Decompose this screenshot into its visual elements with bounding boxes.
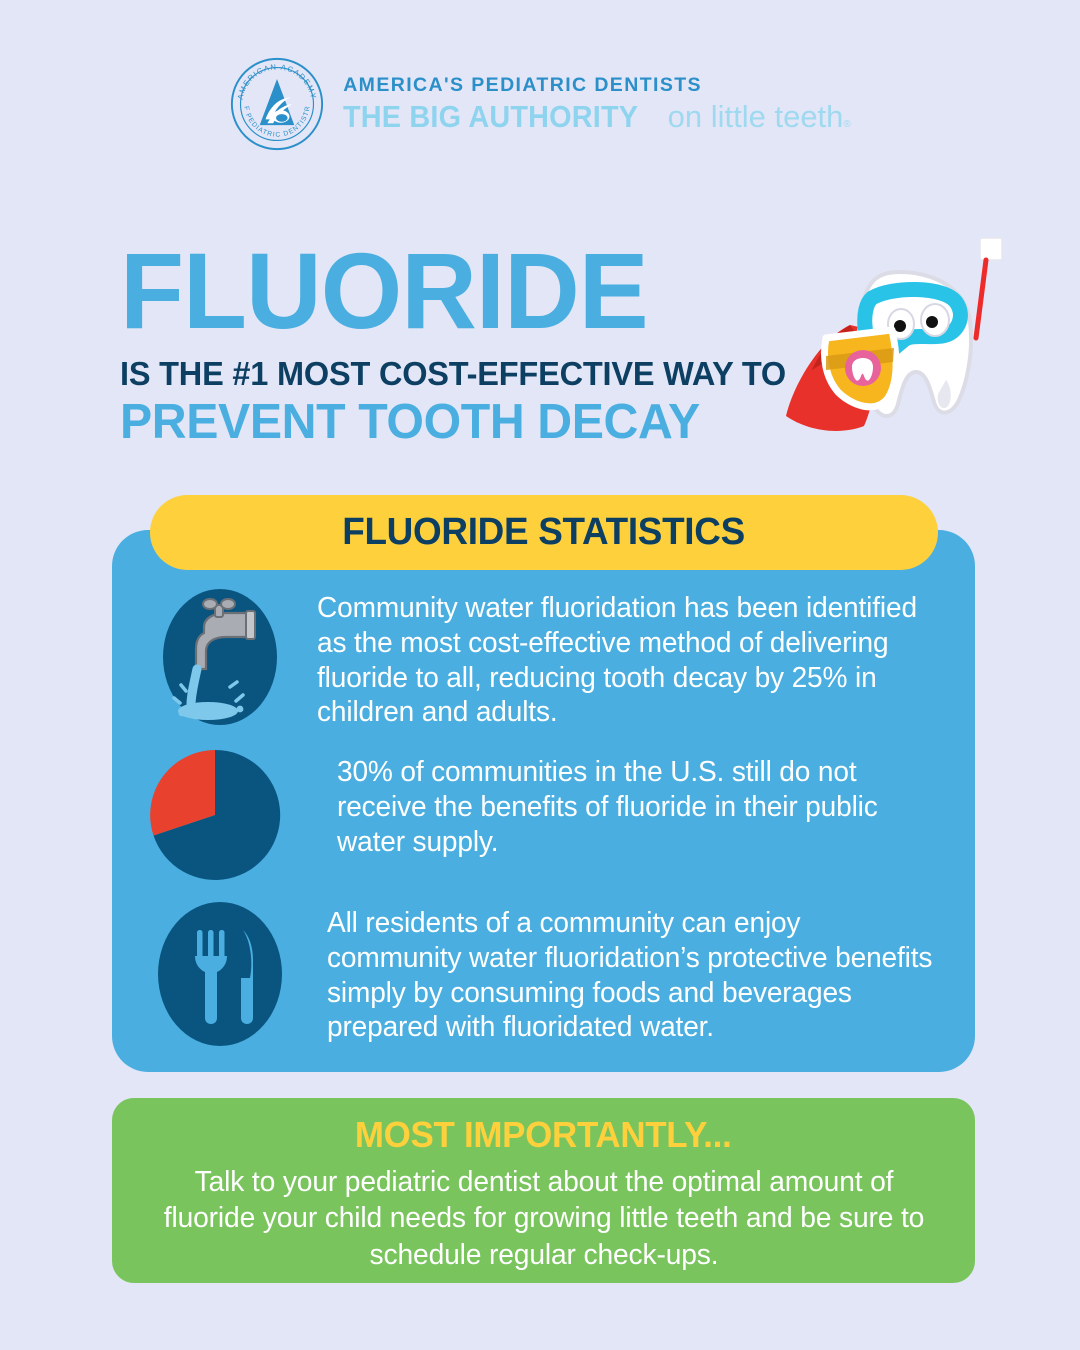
stat-item: 30% of communities in the U.S. still do …: [145, 745, 952, 885]
most-importantly-title: MOST IMPORTANTLY...: [355, 1116, 732, 1154]
registered-mark-icon: ®: [843, 120, 850, 130]
brand-header: AMERICAN ACADEMY OF PEDIATRIC DENTISTRY …: [0, 56, 1080, 152]
brand-tagline-light: on little teeth: [668, 101, 844, 132]
stat-text: 30% of communities in the U.S. still do …: [337, 755, 943, 859]
most-importantly-panel: MOST IMPORTANTLY... Talk to your pediatr…: [112, 1098, 975, 1283]
brand-tagline: AMERICA'S PEDIATRIC DENTISTS THE BIG AUT…: [343, 76, 851, 132]
infographic-page: AMERICAN ACADEMY OF PEDIATRIC DENTISTRY …: [0, 0, 1080, 1350]
superhero-tooth-mascot-icon: [780, 230, 1020, 470]
stat-item: All residents of a community can enjoy c…: [155, 900, 947, 1048]
brand-tagline-line1: AMERICA'S PEDIATRIC DENTISTS: [343, 76, 851, 96]
brand-tagline-bold: THE BIG AUTHORITY: [343, 101, 638, 132]
most-importantly-body: Talk to your pediatric dentist about the…: [148, 1164, 940, 1273]
headline-main: FLUORIDE: [120, 240, 818, 343]
aapd-seal-icon: AMERICAN ACADEMY OF PEDIATRIC DENTISTRY: [229, 56, 325, 152]
fork-knife-icon: [155, 900, 285, 1048]
brand-tagline-line2: THE BIG AUTHORITY on little teeth ®: [343, 101, 851, 132]
toothbrush-icon: [976, 238, 1002, 338]
stat-text: All residents of a community can enjoy c…: [327, 906, 938, 1045]
fluoride-statistics-banner: FLUORIDE STATISTICS: [150, 495, 938, 570]
headline-subtitle-2: PREVENT TOOTH DECAY: [120, 398, 829, 447]
fluoride-statistics-title: FLUORIDE STATISTICS: [343, 511, 746, 554]
headline-subtitle-1: IS THE #1 MOST COST-EFFECTIVE WAY TO: [120, 357, 829, 390]
stat-item: Community water fluoridation has been id…: [160, 585, 927, 730]
headline-block: FLUORIDE IS THE #1 MOST COST-EFFECTIVE W…: [120, 240, 840, 447]
pie-chart-icon: [145, 745, 285, 885]
stat-text: Community water fluoridation has been id…: [317, 591, 918, 730]
faucet-water-icon: [160, 585, 280, 730]
